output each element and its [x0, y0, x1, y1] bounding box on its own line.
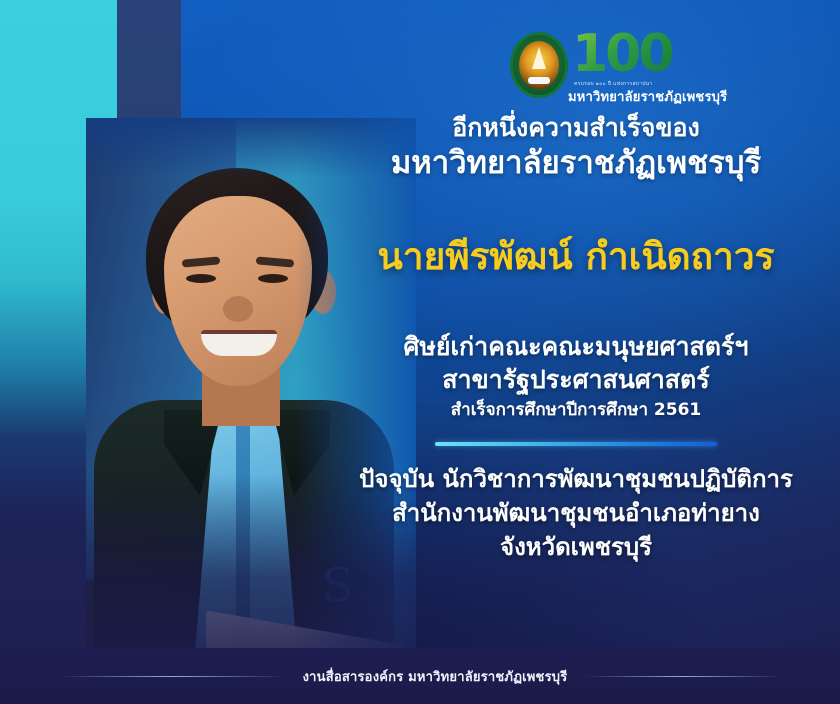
- current-position-line-3: จังหวัดเพชรบุรี: [330, 530, 822, 564]
- footer-credit: งานสื่อสารองค์กร มหาวิทยาลัยราชภัฏเพชรบุ…: [303, 666, 568, 687]
- faculty-line-1: ศิษย์เก่าคณะคณะมนุษยศาสตร์ฯ: [330, 331, 822, 364]
- anniversary-number: 100: [572, 28, 672, 80]
- alumnus-name: นายพีรพัฒน์ กำเนิดถาวร: [330, 235, 822, 279]
- pagoda-icon: [532, 47, 546, 69]
- footer-bar: งานสื่อสารองค์กร มหาวิทยาลัยราชภัฏเพชรบุ…: [0, 648, 840, 704]
- section-divider: [435, 442, 717, 446]
- university-100th-anniversary-logo: 100 ครบรอบ ๑๐๐ ปี แห่งการสถาปนา มหาวิทยา…: [510, 28, 700, 106]
- alumnus-name-block: นายพีรพัฒน์ กำเนิดถาวร: [330, 235, 822, 279]
- eye-left: [186, 274, 216, 283]
- faculty-block: ศิษย์เก่าคณะคณะมนุษยศาสตร์ฯ สาขารัฐประศา…: [330, 331, 822, 424]
- eye-right: [258, 274, 288, 283]
- logo-university-name: มหาวิทยาลัยราชภัฏเพชรบุรี: [568, 86, 727, 107]
- headline-line-1: อีกหนึ่งความสำเร็จของ: [330, 112, 822, 143]
- seal-base-icon: [528, 77, 550, 84]
- current-position-block: ปัจจุบัน นักวิชาการพัฒนาชุมชนปฏิบัติการ …: [330, 462, 822, 564]
- footer-rule-left: [57, 676, 287, 677]
- current-position-line-2: สำนักงานพัฒนาชุมชนอำเภอท่ายาง: [330, 496, 822, 530]
- mouth-smile: [201, 330, 277, 356]
- faculty-line-2: สาขารัฐประศาสนศาสตร์: [330, 364, 822, 397]
- poster-content: อีกหนึ่งความสำเร็จของ มหาวิทยาลัยราชภัฏเ…: [330, 112, 822, 564]
- headline-line-2: มหาวิทยาลัยราชภัฏเพชรบุรี: [330, 145, 822, 183]
- nose: [223, 296, 253, 322]
- alumni-announcement-poster: S 100 ครบรอบ ๑๐๐ ปี แห่งการสถาปนา มหาวิท…: [0, 0, 840, 704]
- university-seal-icon: [510, 32, 568, 98]
- graduation-year: สำเร็จการศึกษาปีการศึกษา 2561: [330, 398, 822, 424]
- current-position-line-1: ปัจจุบัน นักวิชาการพัฒนาชุมชนปฏิบัติการ: [330, 462, 822, 496]
- seal-emblem-icon: [519, 41, 559, 89]
- footer-rule-right: [583, 676, 783, 677]
